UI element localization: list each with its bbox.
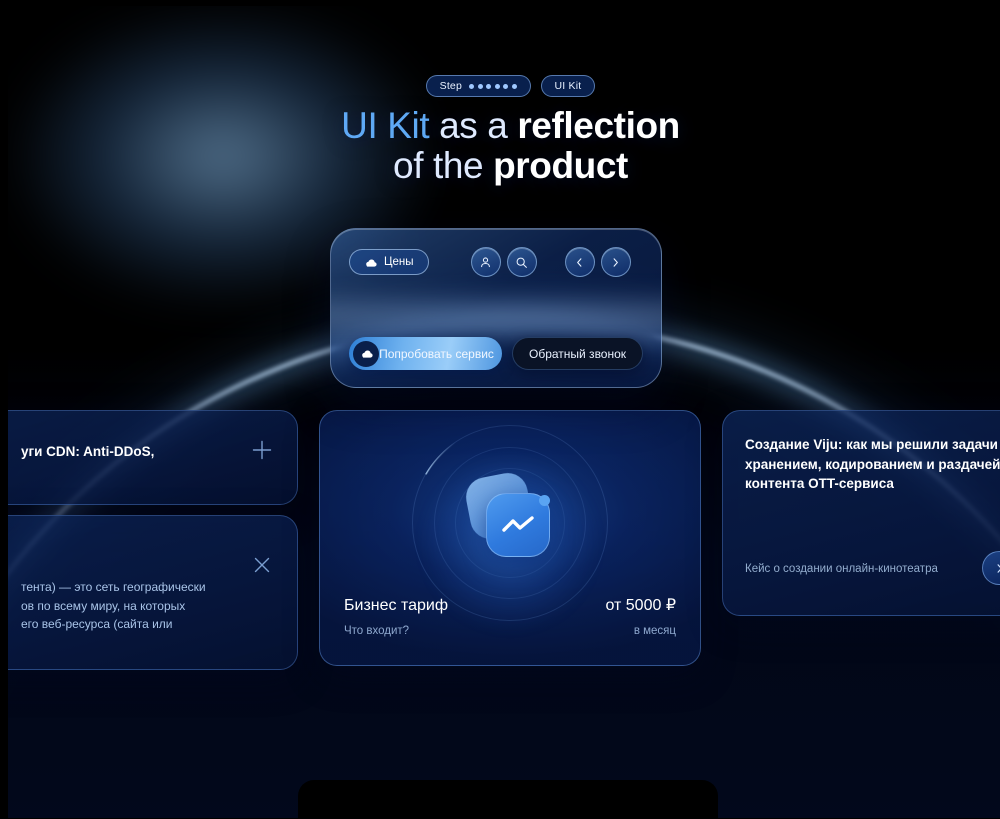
case-study-card[interactable]: Создание Viju: как мы решили задачи с хр…: [722, 410, 1000, 616]
accordion-body: тента) — это сеть географически ов по вс…: [21, 578, 245, 634]
headline-accent: UI Kit: [341, 105, 429, 146]
try-service-button[interactable]: Попробовать сервис: [349, 337, 502, 370]
accordion-card-expanded[interactable]: тента) — это сеть географически ов по вс…: [8, 515, 298, 670]
page-stage: Step UI Kit UI Kit as a reflection of th…: [8, 6, 1000, 818]
control-panel: Цены: [330, 228, 662, 388]
user-icon: [479, 256, 492, 269]
next-arrow-button[interactable]: [601, 247, 631, 277]
headline-line2-b: product: [493, 145, 628, 186]
cloud-icon: [364, 258, 377, 267]
callback-label: Обратный звонок: [529, 347, 626, 361]
price-period: в месяц: [634, 625, 676, 637]
prices-pill-button[interactable]: Цены: [349, 249, 429, 275]
step-dots-icon: [469, 84, 517, 89]
ui-kit-badge-label: UI Kit: [555, 80, 582, 92]
accordion-card-collapsed[interactable]: уги CDN: Anti-DDoS,: [8, 410, 298, 505]
callback-button[interactable]: Обратный звонок: [512, 337, 643, 370]
headline-mid: as a: [429, 105, 517, 146]
case-subtitle: Кейс о создании онлайн-кинотеатра: [745, 561, 971, 578]
panel-bottom-row: Попробовать сервис Обратный звонок: [349, 337, 643, 370]
user-icon-button[interactable]: [471, 247, 501, 277]
bottom-notch: [298, 780, 718, 818]
page-title: UI Kit as a reflection of the product: [8, 106, 1000, 185]
case-title: Создание Viju: как мы решили задачи с хр…: [745, 435, 1000, 494]
price-subtitle: Что входит?: [344, 625, 409, 637]
device-frame: Step UI Kit UI Kit as a reflection of th…: [0, 0, 1000, 819]
cloud-badge-icon: [353, 341, 379, 367]
price-title: Бизнес тариф: [344, 597, 448, 615]
try-service-label: Попробовать сервис: [379, 347, 502, 361]
headline-rest: reflection: [517, 105, 680, 146]
ui-kit-badge[interactable]: UI Kit: [541, 75, 596, 97]
prev-arrow-button[interactable]: [565, 247, 595, 277]
chart-card-logo-icon: [464, 471, 556, 563]
prices-pill-label: Цены: [384, 256, 414, 268]
next-arrow-icon: [610, 257, 621, 268]
step-badge-label: Step: [440, 80, 462, 92]
prev-arrow-icon: [574, 257, 585, 268]
logo-dot: [539, 495, 550, 506]
next-arrow-icon: [994, 563, 1000, 574]
badge-row: Step UI Kit: [8, 75, 1000, 97]
pricing-card[interactable]: Бизнес тариф Что входит? от 5000 ₽ в мес…: [319, 410, 701, 666]
close-icon[interactable]: [251, 554, 273, 576]
search-icon-button[interactable]: [507, 247, 537, 277]
chart-line-icon: [501, 515, 535, 535]
search-icon: [515, 256, 528, 269]
panel-sheen: [330, 289, 662, 343]
panel-top-row: Цены: [349, 247, 643, 277]
accordion-title: уги CDN: Anti-DDoS,: [21, 444, 154, 459]
panel-nav-group: [565, 247, 631, 277]
price-amount: от 5000 ₽: [605, 595, 676, 615]
panel-icon-group: [471, 247, 537, 277]
step-badge[interactable]: Step: [426, 75, 531, 97]
headline-line2-a: of the: [393, 145, 493, 186]
card-row: уги CDN: Anti-DDoS, тента) — это сеть ге…: [8, 410, 1000, 670]
cloud-icon: [360, 349, 373, 358]
plus-icon[interactable]: [251, 439, 273, 461]
